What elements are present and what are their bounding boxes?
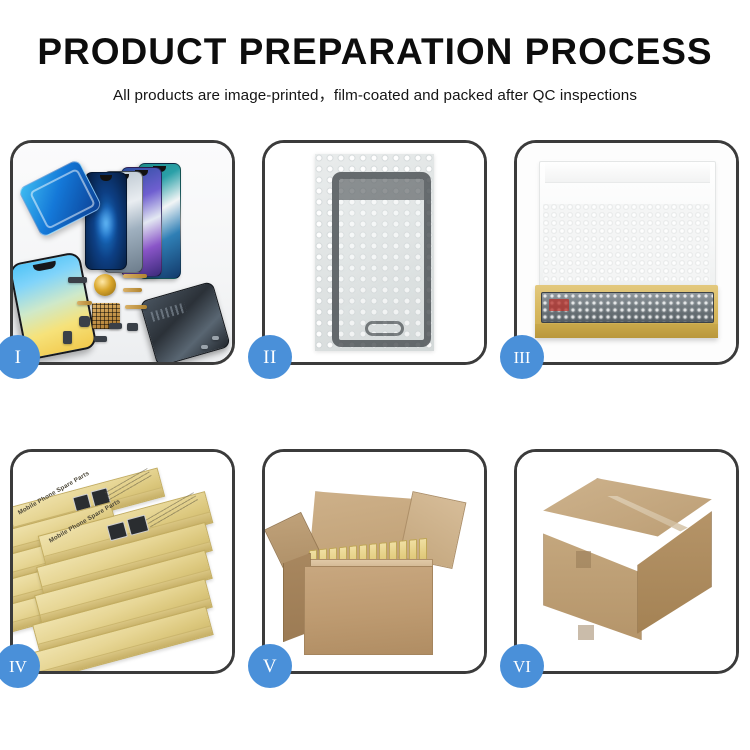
small-part-screw-a [212, 336, 219, 340]
small-part-flex-cable-c [77, 301, 92, 305]
scene-screen-in-box [517, 143, 736, 362]
step-badge-3: III [500, 335, 544, 379]
scene-open-carton [265, 452, 484, 671]
step-image-5 [265, 452, 484, 671]
small-part-flex-cable-b [123, 288, 143, 292]
foam-padding [543, 204, 709, 281]
phone-back-housing [139, 281, 231, 362]
step-image-4: Mobile Phone Spare Parts [13, 452, 232, 671]
wireless-charging-coil [94, 274, 116, 296]
small-part-sim-tray [94, 336, 107, 343]
small-part-connector [127, 323, 138, 332]
step-image-2 [265, 143, 484, 362]
phone-front-glass [332, 172, 431, 348]
carton-tab-upper [576, 551, 591, 569]
page-title: PRODUCT PREPARATION PROCESS [0, 0, 750, 72]
small-part-camera [79, 316, 90, 327]
step-image-6 [517, 452, 736, 671]
small-part-speaker [68, 277, 88, 284]
step-panel-1: I [10, 140, 235, 365]
small-part-flex-cable-a [123, 274, 147, 278]
step-panel-3: III [514, 140, 739, 365]
scene-stacked-boxes: Mobile Phone Spare Parts [13, 452, 232, 671]
step-panel-2: II [262, 140, 487, 365]
scene-bubble-wrapped-screen [265, 143, 484, 362]
step-image-3 [517, 143, 736, 362]
phone-fan-group [79, 165, 215, 279]
carton-left-panel [543, 524, 641, 640]
small-part-vibrator [63, 331, 72, 344]
scene-phone-parts [13, 143, 232, 362]
process-steps-grid: I II III [10, 140, 740, 674]
small-part-screw-b [201, 345, 208, 349]
carton-tab-lower [578, 625, 593, 640]
step-badge-5: V [248, 644, 292, 688]
page-header: PRODUCT PREPARATION PROCESS All products… [0, 0, 750, 105]
step-badge-4: IV [0, 644, 40, 688]
step-badge-1: I [0, 335, 40, 379]
step-panel-5: V [262, 449, 487, 674]
page-subtitle: All products are image-printed，film-coat… [0, 72, 750, 105]
step-panel-6: VI [514, 449, 739, 674]
carton-front-panel [304, 566, 433, 656]
step-panel-4: Mobile Phone Spare Parts [10, 449, 235, 674]
small-part-flex-cable-d [125, 305, 147, 309]
wrapped-screen-in-tray [541, 292, 714, 322]
step-badge-6: VI [500, 644, 544, 688]
scene-sealed-carton [517, 452, 736, 671]
step-image-1 [13, 143, 232, 362]
step-badge-2: II [248, 335, 292, 379]
bubble-wrap-sheet [315, 154, 433, 351]
small-part-button [109, 323, 122, 330]
